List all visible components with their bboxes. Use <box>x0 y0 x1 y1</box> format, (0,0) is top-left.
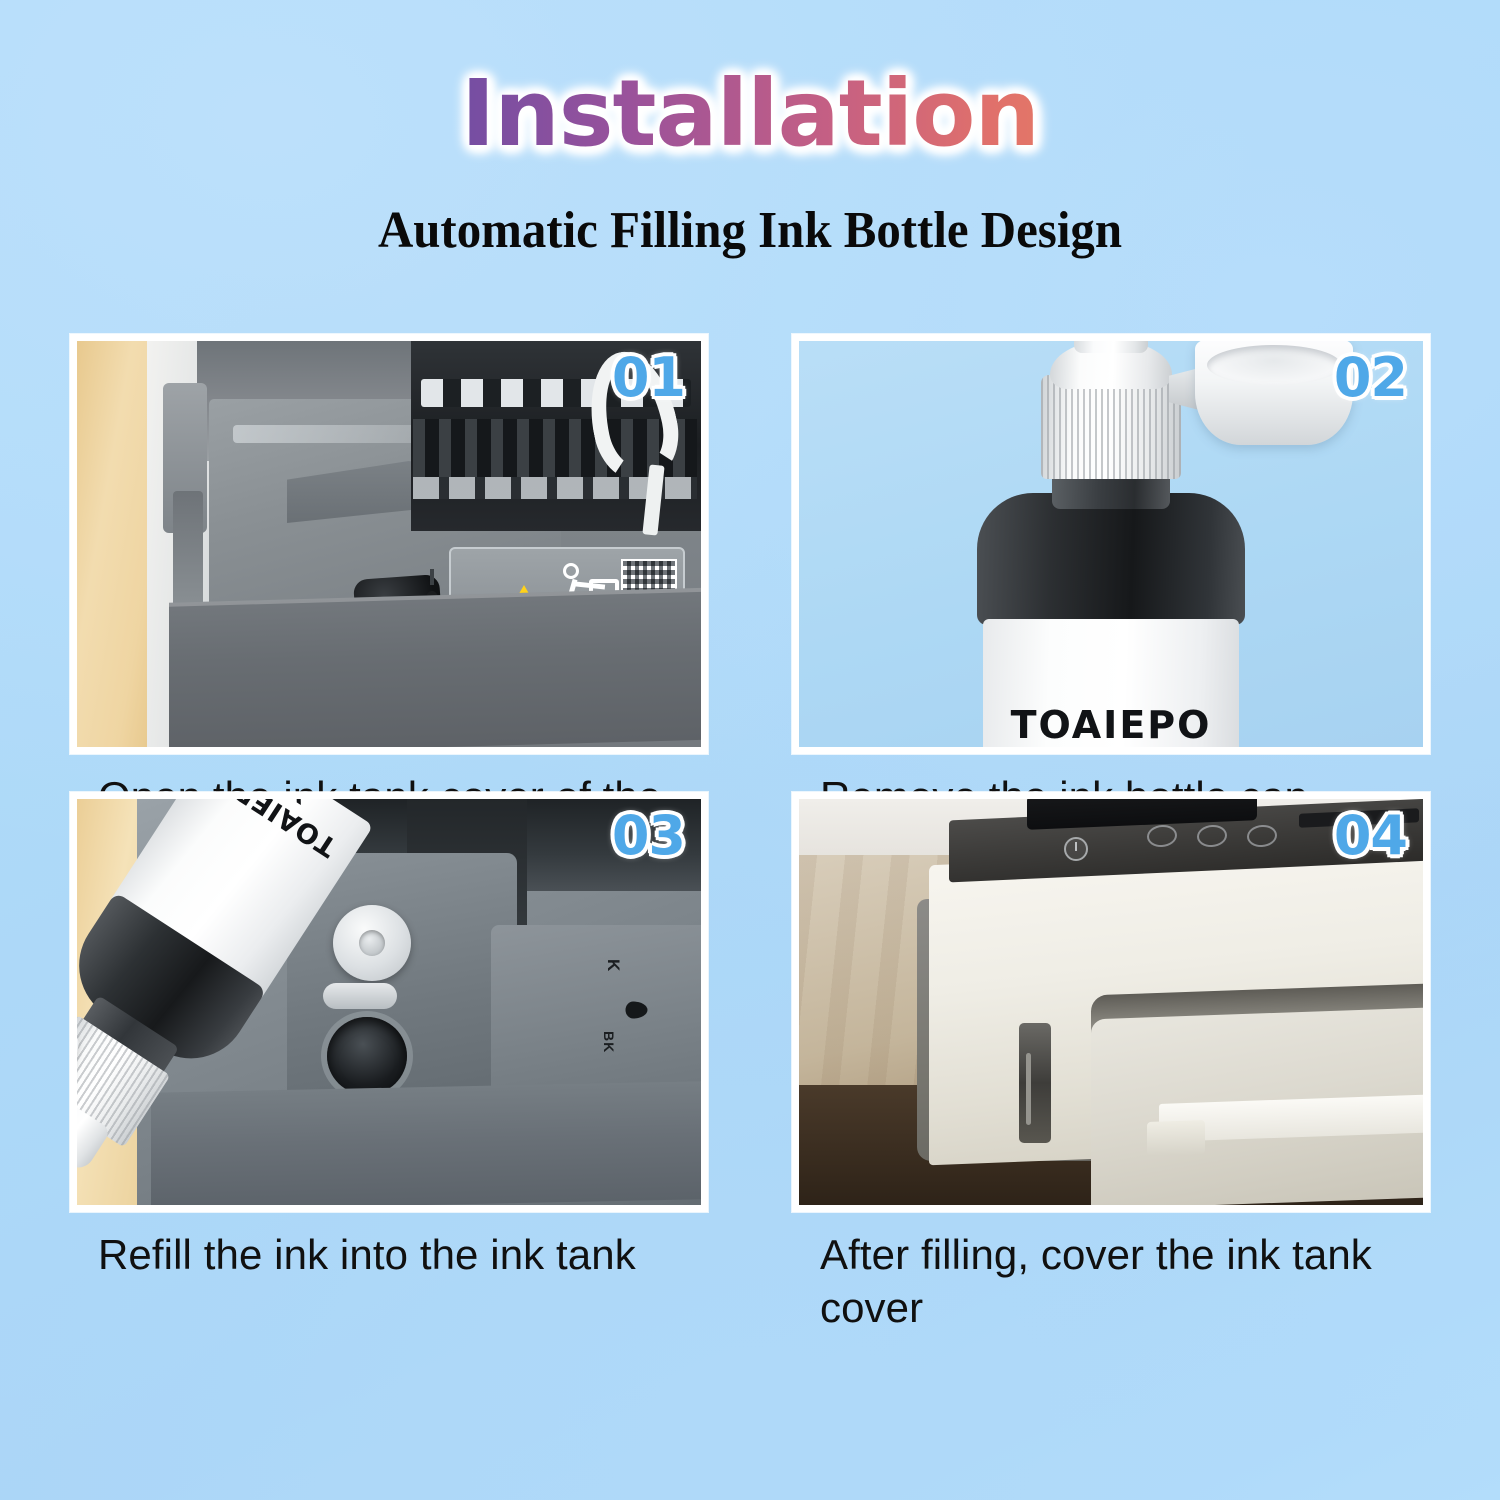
ink-tank-cover-panel <box>169 587 701 747</box>
tank-label-k: K <box>603 959 623 971</box>
step-photo-03: K BK XL TOAIEPO <box>70 792 708 1212</box>
step-photo-01: 01 <box>70 334 708 754</box>
tank-label-bk: BK <box>601 1031 617 1053</box>
step-photo-04: 04 <box>792 792 1430 1212</box>
step-card-03: K BK XL TOAIEPO <box>70 792 708 1224</box>
ink-bottle: TOAIEPO <box>977 493 1245 747</box>
step-card-04: 04 After filling, cover the ink tank cov… <box>792 792 1430 1224</box>
page-header: Installation Automatic Filling Ink Bottl… <box>0 0 1500 300</box>
tray-extension-tab <box>1147 1120 1205 1156</box>
power-button-icon[interactable] <box>1064 837 1088 861</box>
scene-printer-closed: 04 <box>799 799 1423 1205</box>
step-number-badge: 02 <box>1334 350 1407 406</box>
step-caption: Refill the ink into the ink tank <box>98 1228 718 1281</box>
bottle-ribbed-cap <box>1041 375 1181 479</box>
printer-side-vent <box>1019 1023 1051 1143</box>
step-caption: After filling, cover the ink tank cover <box>820 1228 1440 1334</box>
bottle-spout <box>1074 341 1148 353</box>
installation-infographic: Installation Automatic Filling Ink Bottl… <box>0 0 1500 1500</box>
step-photo-02: TOAIEPO 02 <box>792 334 1430 754</box>
pictogram-head <box>563 563 579 579</box>
scene-printer-interior: 01 <box>77 341 701 747</box>
bottle-white-label: TOAIEPO <box>983 619 1239 747</box>
step-number-badge: 04 <box>1334 808 1407 864</box>
cover-hinge-lower <box>173 491 203 611</box>
page-subtitle: Automatic Filling Ink Bottle Design <box>45 200 1455 262</box>
page-title: Installation <box>0 60 1500 168</box>
removed-bottle-cap <box>1195 341 1353 445</box>
steps-grid: 01 Open the ink tank cover of the printe… <box>70 334 1430 1454</box>
step-card-01: 01 Open the ink tank cover of the printe… <box>70 334 708 766</box>
step-card-02: TOAIEPO 02 Remove the ink bottle cap <box>792 334 1430 766</box>
step-number-badge: 01 <box>612 350 685 406</box>
bottle-brand-text: TOAIEPO <box>983 703 1239 747</box>
scene-refill-ink-tank: K BK XL TOAIEPO <box>77 799 701 1205</box>
step-number-badge: 03 <box>612 808 685 864</box>
bottle-black-shoulder <box>977 493 1245 625</box>
scene-ink-bottle: TOAIEPO 02 <box>799 341 1423 747</box>
